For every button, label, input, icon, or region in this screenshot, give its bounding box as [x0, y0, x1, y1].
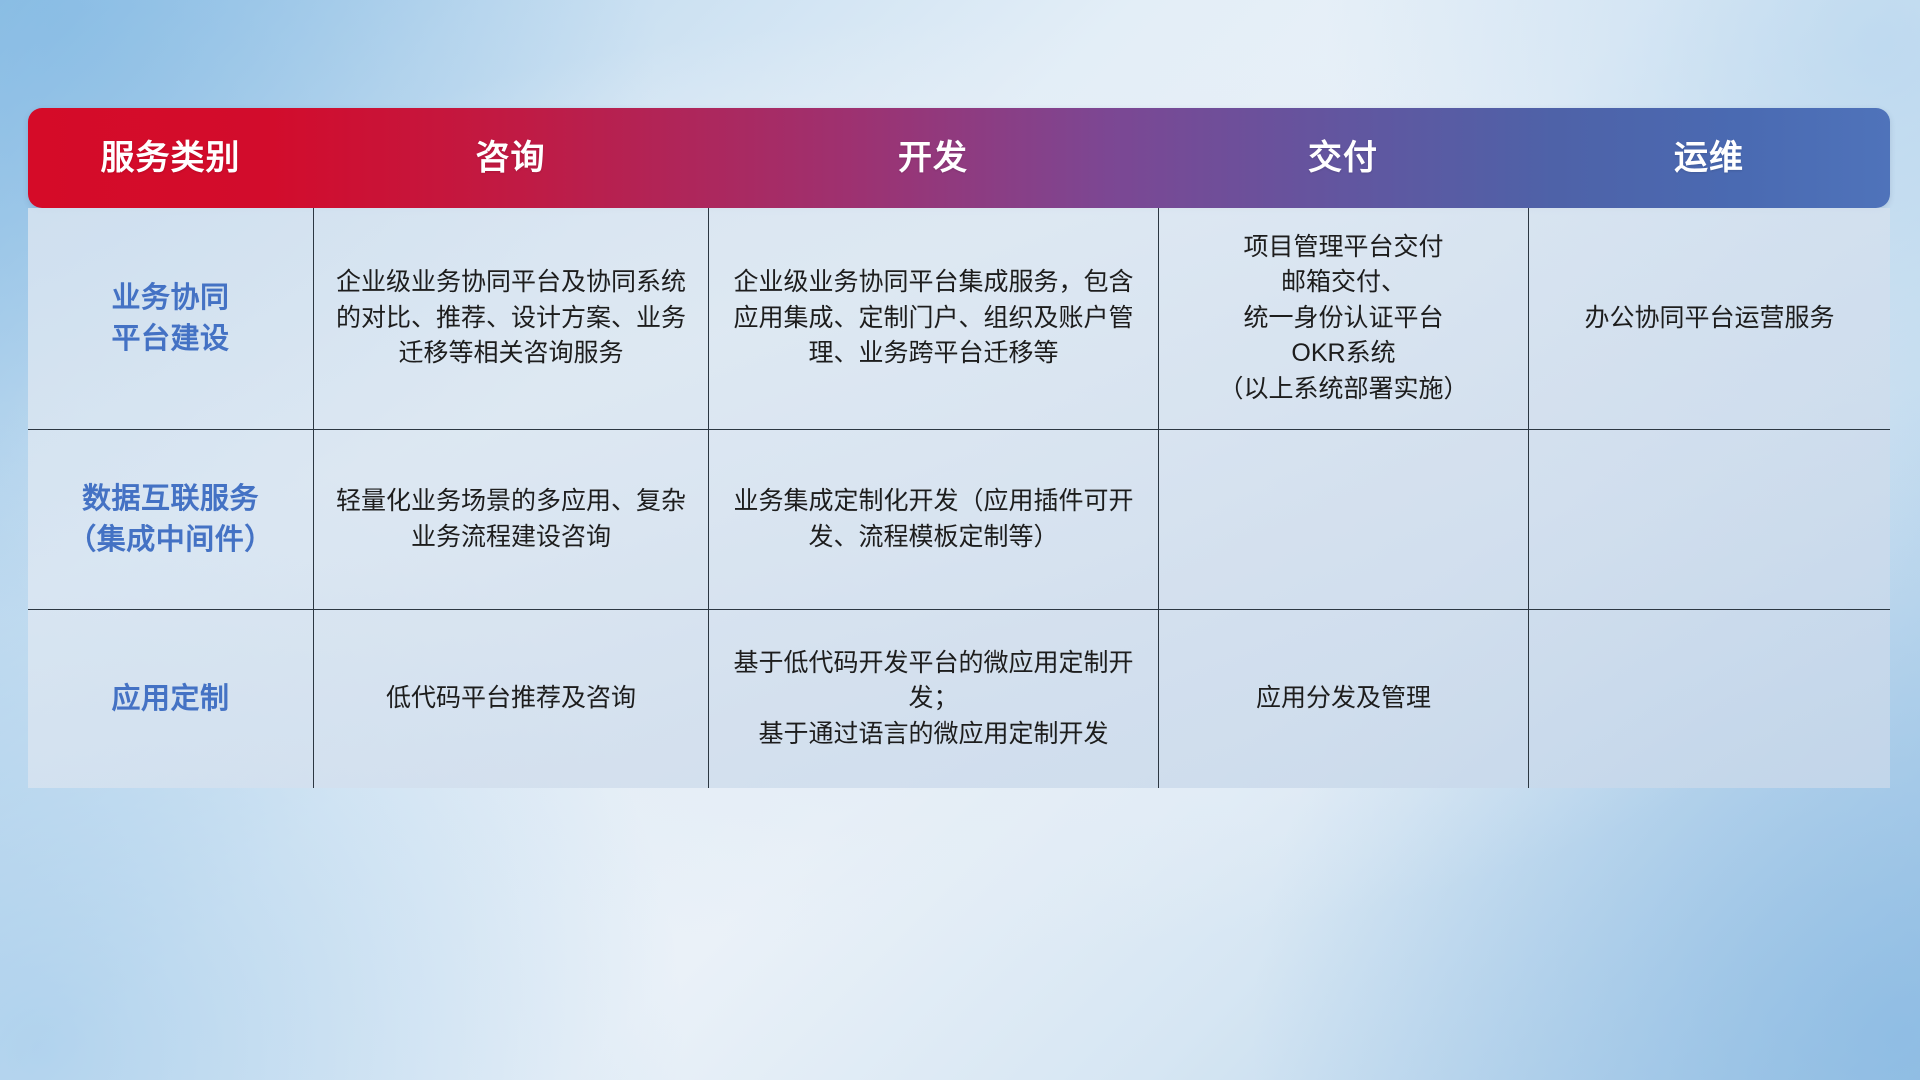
row-label-cell: 数据互联服务 （集成中间件）: [28, 430, 313, 609]
cell-delivery: 应用分发及管理: [1158, 610, 1528, 788]
cell-consulting: 轻量化业务场景的多应用、复杂业务流程建设咨询: [313, 430, 708, 609]
cell-consulting: 低代码平台推荐及咨询: [313, 610, 708, 788]
column-header-delivery: 交付: [1158, 141, 1528, 175]
cell-text: 企业级业务协同平台集成服务，包含应用集成、定制门户、组织及账户管理、业务跨平台迁…: [723, 265, 1144, 372]
table-row: 业务协同 平台建设 企业级业务协同平台及协同系统的对比、推荐、设计方案、业务迁移…: [28, 208, 1890, 429]
cell-text: 办公协同平台运营服务: [1584, 301, 1834, 337]
cell-consulting: 企业级业务协同平台及协同系统的对比、推荐、设计方案、业务迁移等相关咨询服务: [313, 208, 708, 429]
row-label-text: 数据互联服务 （集成中间件）: [67, 479, 274, 559]
service-matrix-table: 服务类别 咨询 开发 交付 运维 业务协同 平台建设 企业级业务协同平台及协同系…: [28, 108, 1890, 788]
row-label-cell: 应用定制: [28, 610, 313, 788]
table-body: 业务协同 平台建设 企业级业务协同平台及协同系统的对比、推荐、设计方案、业务迁移…: [28, 208, 1890, 788]
cell-development: 基于低代码开发平台的微应用定制开发； 基于通过语言的微应用定制开发: [708, 610, 1158, 788]
cell-text: 轻量化业务场景的多应用、复杂业务流程建设咨询: [328, 484, 694, 555]
cell-text: 低代码平台推荐及咨询: [386, 681, 636, 717]
cell-delivery: 项目管理平台交付 邮箱交付、 统一身份认证平台 OKR系统 （以上系统部署实施）: [1158, 208, 1528, 429]
cell-operations: [1528, 430, 1890, 609]
cell-text: 项目管理平台交付 邮箱交付、 统一身份认证平台 OKR系统 （以上系统部署实施）: [1218, 230, 1468, 408]
column-header-consulting: 咨询: [313, 141, 708, 175]
row-label-text: 应用定制: [111, 679, 229, 719]
column-header-development: 开发: [708, 141, 1158, 175]
cell-text: 业务集成定制化开发（应用插件可开发、流程模板定制等）: [723, 484, 1144, 555]
column-header-service-category: 服务类别: [28, 141, 313, 175]
row-label-cell: 业务协同 平台建设: [28, 208, 313, 429]
cell-operations: [1528, 610, 1890, 788]
cell-text: 基于低代码开发平台的微应用定制开发； 基于通过语言的微应用定制开发: [723, 646, 1144, 753]
cell-operations: 办公协同平台运营服务: [1528, 208, 1890, 429]
cell-development: 业务集成定制化开发（应用插件可开发、流程模板定制等）: [708, 430, 1158, 609]
cell-text: 应用分发及管理: [1256, 681, 1431, 717]
table-header-row: 服务类别 咨询 开发 交付 运维: [28, 108, 1890, 208]
cell-delivery: [1158, 430, 1528, 609]
cell-text: 企业级业务协同平台及协同系统的对比、推荐、设计方案、业务迁移等相关咨询服务: [328, 265, 694, 372]
cell-development: 企业级业务协同平台集成服务，包含应用集成、定制门户、组织及账户管理、业务跨平台迁…: [708, 208, 1158, 429]
column-header-operations: 运维: [1528, 141, 1890, 175]
table-row: 应用定制 低代码平台推荐及咨询 基于低代码开发平台的微应用定制开发； 基于通过语…: [28, 609, 1890, 788]
table-row: 数据互联服务 （集成中间件） 轻量化业务场景的多应用、复杂业务流程建设咨询 业务…: [28, 429, 1890, 609]
row-label-text: 业务协同 平台建设: [111, 278, 229, 358]
